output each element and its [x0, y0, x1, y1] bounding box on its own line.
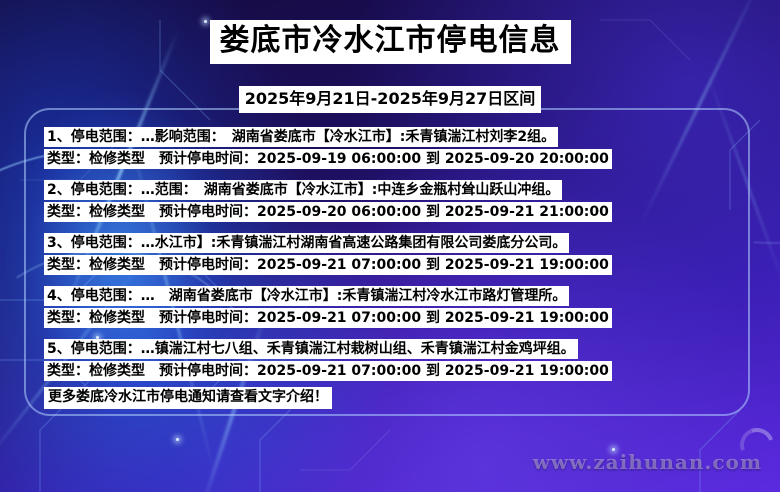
outage-scope-text: 1、停电范围：…影响范围： 湖南省娄底市【冷水江市】:禾青镇湍江村刘李2组。: [44, 127, 558, 147]
outage-detail-text: 类型：检修类型 预计停电时间：2025-09-20 06:00:00 到 202…: [44, 202, 612, 222]
outage-detail-text: 类型：检修类型 预计停电时间：2025-09-21 07:00:00 到 202…: [44, 308, 612, 328]
outage-scope-line: 1、停电范围：…影响范围： 湖南省娄底市【冷水江市】:禾青镇湍江村刘李2组。: [44, 126, 558, 147]
outage-detail-line: 类型：检修类型 预计停电时间：2025-09-21 07:00:00 到 202…: [44, 254, 612, 275]
outage-detail-line: 类型：检修类型 预计停电时间：2025-09-20 06:00:00 到 202…: [44, 201, 612, 222]
power-outage-poster: 娄底市冷水江市停电信息 2025年9月21日-2025年9月27日区间 1、停电…: [0, 0, 780, 492]
poster-date-range-text: 2025年9月21日-2025年9月27日区间: [239, 86, 542, 113]
outage-scope-line: 5、停电范围：…镇湍江村七八组、禾青镇湍江村栽树山组、禾青镇湍江村金鸡坪组。: [44, 338, 578, 359]
outage-scope-text: 2、停电范围：…范围： 湖南省娄底市【冷水江市】:中连乡金瓶村耸山跃山冲组。: [44, 180, 562, 200]
outage-scope-line: 2、停电范围：…范围： 湖南省娄底市【冷水江市】:中连乡金瓶村耸山跃山冲组。: [44, 179, 562, 200]
outage-detail-text: 类型：检修类型 预计停电时间：2025-09-21 07:00:00 到 202…: [44, 361, 612, 381]
poster-title: 娄底市冷水江市停电信息: [0, 20, 780, 64]
outage-entry-list: 1、停电范围：…影响范围： 湖南省娄底市【冷水江市】:禾青镇湍江村刘李2组。 类…: [44, 126, 744, 391]
outage-detail-line: 类型：检修类型 预计停电时间：2025-09-19 06:00:00 到 202…: [44, 148, 612, 169]
footer-note: 更多娄底冷水江市停电通知请查看文字介绍！: [44, 386, 332, 409]
outage-detail-text: 类型：检修类型 预计停电时间：2025-09-19 06:00:00 到 202…: [44, 149, 612, 169]
footer-note-text: 更多娄底冷水江市停电通知请查看文字介绍！: [44, 387, 332, 409]
outage-scope-text: 5、停电范围：…镇湍江村七八组、禾青镇湍江村栽树山组、禾青镇湍江村金鸡坪组。: [44, 339, 578, 359]
outage-scope-line: 4、停电范围：… 湖南省娄底市【冷水江市】:禾青镇湍江村冷水江市路灯管理所。: [44, 285, 569, 306]
poster-title-text: 娄底市冷水江市停电信息: [210, 20, 571, 64]
outage-entry: 3、停电范围：…水江市】:禾青镇湍江村湖南省高速公路集团有限公司娄底分公司。 类…: [44, 232, 744, 275]
outage-detail-text: 类型：检修类型 预计停电时间：2025-09-21 07:00:00 到 202…: [44, 255, 612, 275]
outage-entry: 1、停电范围：…影响范围： 湖南省娄底市【冷水江市】:禾青镇湍江村刘李2组。 类…: [44, 126, 744, 169]
outage-entry: 4、停电范围：… 湖南省娄底市【冷水江市】:禾青镇湍江村冷水江市路灯管理所。 类…: [44, 285, 744, 328]
watermark: www.zaihunan.com: [533, 450, 762, 474]
outage-entry: 2、停电范围：…范围： 湖南省娄底市【冷水江市】:中连乡金瓶村耸山跃山冲组。 类…: [44, 179, 744, 222]
poster-date-range: 2025年9月21日-2025年9月27日区间: [0, 86, 780, 113]
outage-scope-line: 3、停电范围：…水江市】:禾青镇湍江村湖南省高速公路集团有限公司娄底分公司。: [44, 232, 569, 253]
outage-entry: 5、停电范围：…镇湍江村七八组、禾青镇湍江村栽树山组、禾青镇湍江村金鸡坪组。 类…: [44, 338, 744, 381]
outage-scope-text: 3、停电范围：…水江市】:禾青镇湍江村湖南省高速公路集团有限公司娄底分公司。: [44, 233, 569, 253]
outage-scope-text: 4、停电范围：… 湖南省娄底市【冷水江市】:禾青镇湍江村冷水江市路灯管理所。: [44, 286, 569, 306]
outage-detail-line: 类型：检修类型 预计停电时间：2025-09-21 07:00:00 到 202…: [44, 307, 612, 328]
outage-detail-line: 类型：检修类型 预计停电时间：2025-09-21 07:00:00 到 202…: [44, 360, 612, 381]
